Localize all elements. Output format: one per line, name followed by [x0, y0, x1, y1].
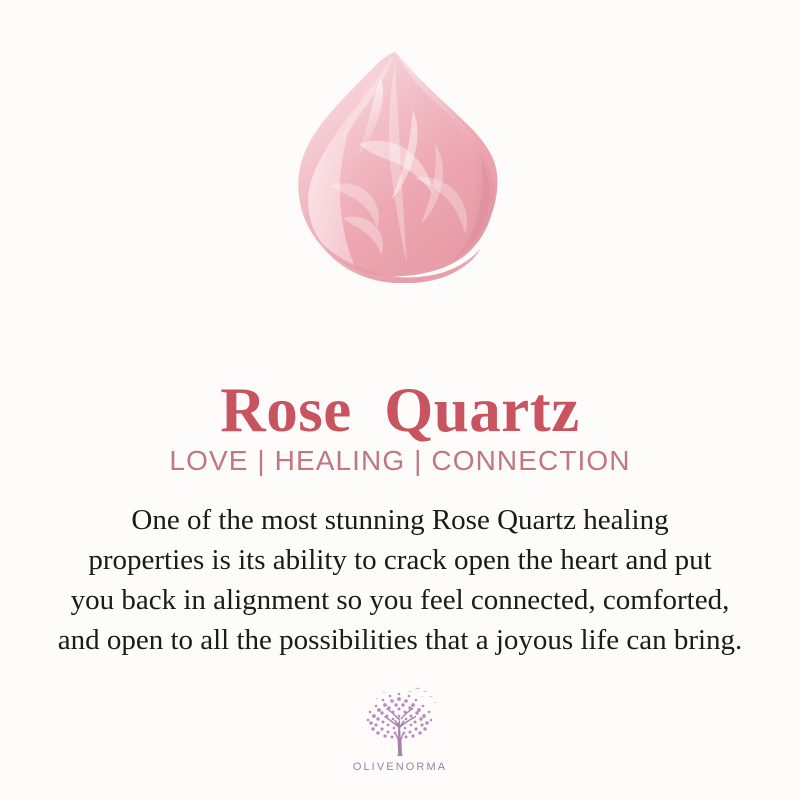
product-title: Rose Quartz	[0, 376, 800, 444]
product-keywords: LOVE | HEALING | CONNECTION	[0, 444, 800, 478]
description-line: One of the most stunning Rose Quartz hea…	[0, 500, 800, 540]
tree-icon	[354, 684, 446, 758]
rose-quartz-crystal-icon	[285, 48, 515, 283]
description-line: you back in alignment so you feel connec…	[0, 580, 800, 620]
brand-logo: OLIVENORMA	[0, 684, 800, 773]
brand-name: OLIVENORMA	[353, 761, 447, 773]
description-line: properties is its ability to crack open …	[0, 540, 800, 580]
description-line: and open to all the possibilities that a…	[0, 620, 800, 660]
product-description: One of the most stunning Rose Quartz hea…	[0, 500, 800, 660]
crystal-image-container	[0, 0, 800, 300]
product-card: Rose Quartz LOVE | HEALING | CONNECTION …	[0, 0, 800, 800]
